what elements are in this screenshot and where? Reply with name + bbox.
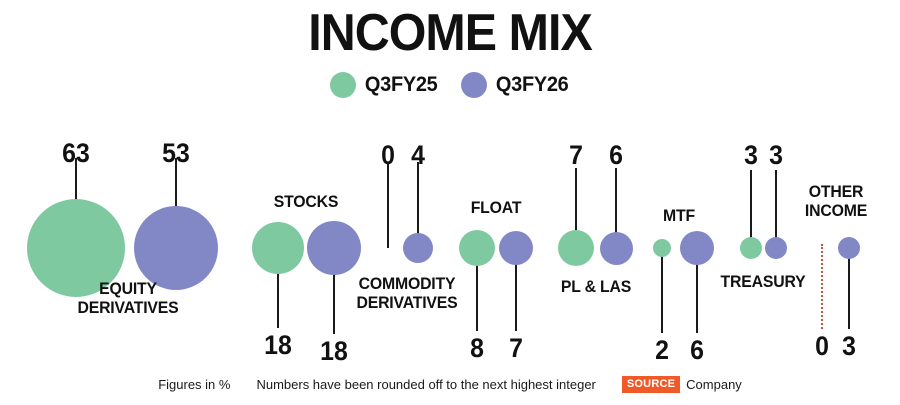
bubble-mtf-q3fy26[interactable] [680, 231, 714, 265]
category-label-other-income: OTHERINCOME [734, 182, 900, 220]
source-badge: SOURCE [622, 376, 680, 393]
legend-item-q3fy26[interactable]: Q3FY26 [461, 72, 570, 98]
source-block: SOURCE Company [622, 376, 742, 393]
category-label-line: COMMODITY [305, 274, 510, 293]
bubble-pl-and-las-q3fy26[interactable] [600, 232, 633, 265]
legend-item-q3fy25[interactable]: Q3FY25 [330, 72, 439, 98]
income-mix-chart: INCOME MIX Q3FY25 Q3FY26 6353EQUITYDERIV… [0, 0, 900, 405]
category-label-stocks: STOCKS [204, 192, 409, 211]
page-title: INCOME MIX [32, 4, 869, 62]
bubble-stem [821, 244, 823, 329]
value-label-treasury-q3fy26: 3 [739, 140, 813, 170]
bubble-commodity-derivatives-q3fy26[interactable] [403, 233, 433, 263]
bubble-treasury-q3fy26[interactable] [765, 237, 787, 259]
legend-label: Q3FY25 [364, 73, 437, 97]
circle-icon [461, 72, 487, 98]
value-label-pl-and-las-q3fy26: 6 [579, 140, 653, 170]
bubble-stem [387, 162, 389, 248]
category-label-line: EQUITY [26, 279, 231, 298]
figures-unit-note: Figures in % [158, 377, 230, 392]
bubble-stem [848, 248, 850, 329]
bubble-pl-and-las-q3fy25[interactable] [558, 230, 594, 266]
value-label-equity-derivatives-q3fy25: 63 [39, 138, 113, 168]
category-label-line: DERIVATIVES [305, 293, 510, 312]
bubble-stocks-q3fy26[interactable] [307, 221, 361, 275]
category-label-line: STOCKS [204, 192, 409, 211]
bubble-mtf-q3fy25[interactable] [653, 239, 671, 257]
value-label-mtf-q3fy26: 6 [660, 335, 734, 365]
value-label-commodity-derivatives-q3fy26: 4 [381, 140, 455, 170]
bubble-equity-derivatives-q3fy26[interactable] [134, 206, 218, 290]
bubble-float-q3fy26[interactable] [499, 231, 533, 265]
category-label-equity-derivatives: EQUITYDERIVATIVES [26, 279, 231, 317]
bubble-treasury-q3fy25[interactable] [740, 237, 762, 259]
category-label-line: DERIVATIVES [26, 298, 231, 317]
bubble-other-income-q3fy26[interactable] [838, 237, 860, 259]
category-label-line: OTHER [734, 182, 900, 201]
chart-footer: Figures in % Numbers have been rounded o… [0, 376, 900, 393]
category-label-line: FLOAT [394, 198, 599, 217]
category-label-line: TREASURY [661, 272, 866, 291]
category-label-treasury: TREASURY [661, 272, 866, 291]
legend-label: Q3FY26 [496, 73, 569, 97]
value-label-equity-derivatives-q3fy26: 53 [139, 138, 213, 168]
chart-legend: Q3FY25 Q3FY26 [0, 72, 900, 98]
category-label-commodity-derivatives: COMMODITYDERIVATIVES [305, 274, 510, 312]
value-label-float-q3fy26: 7 [479, 333, 553, 363]
rounding-note: Numbers have been rounded off to the nex… [256, 377, 595, 392]
category-label-line: INCOME [734, 201, 900, 220]
bubble-float-q3fy25[interactable] [459, 230, 495, 266]
circle-icon [330, 72, 356, 98]
category-label-float: FLOAT [394, 198, 599, 217]
value-label-other-income-q3fy26: 3 [812, 331, 886, 361]
source-value: Company [686, 377, 742, 392]
value-label-stocks-q3fy26: 18 [297, 336, 371, 366]
bubble-stocks-q3fy25[interactable] [252, 222, 304, 274]
